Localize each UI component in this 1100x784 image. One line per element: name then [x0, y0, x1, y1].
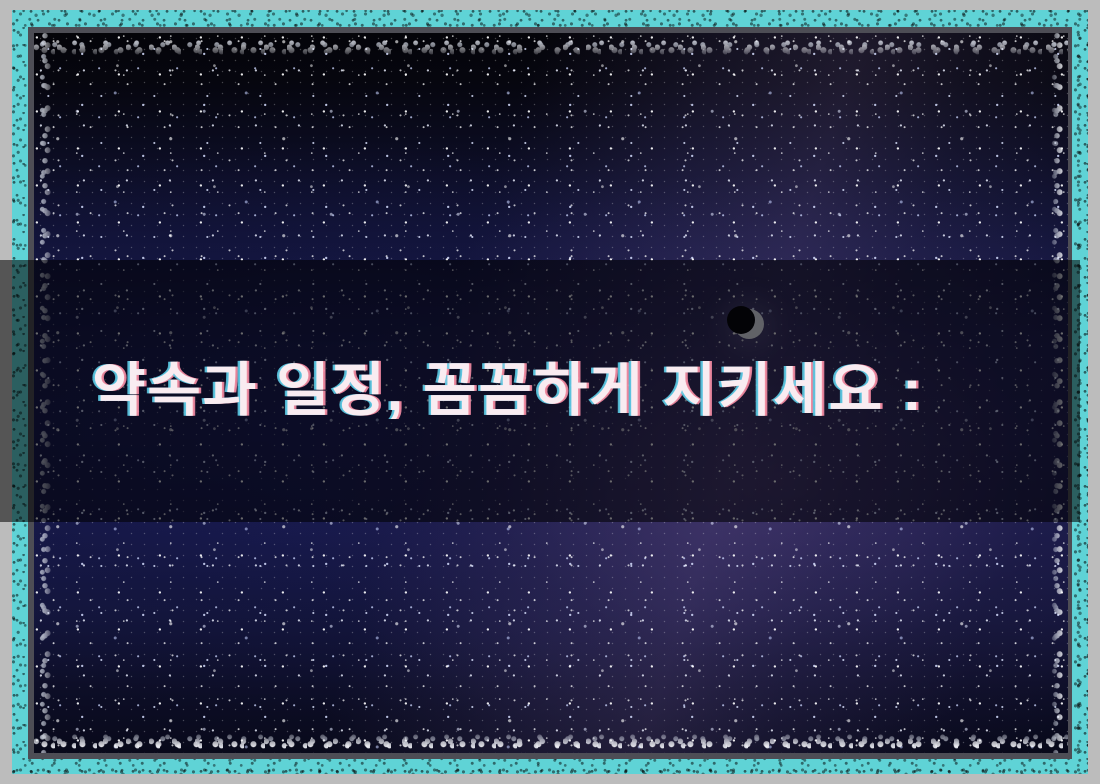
banner-caption: 약속과 일정, 꼼꼼하게 지키세요 :	[0, 359, 924, 423]
photo-edge-grain-bottom	[34, 727, 1068, 753]
photo-edge-grain-top	[34, 33, 1068, 59]
caption-overlay-band: 약속과 일정, 꼼꼼하게 지키세요 :	[0, 260, 1080, 522]
banner-stage: 약속과 일정, 꼼꼼하게 지키세요 :	[0, 0, 1100, 784]
